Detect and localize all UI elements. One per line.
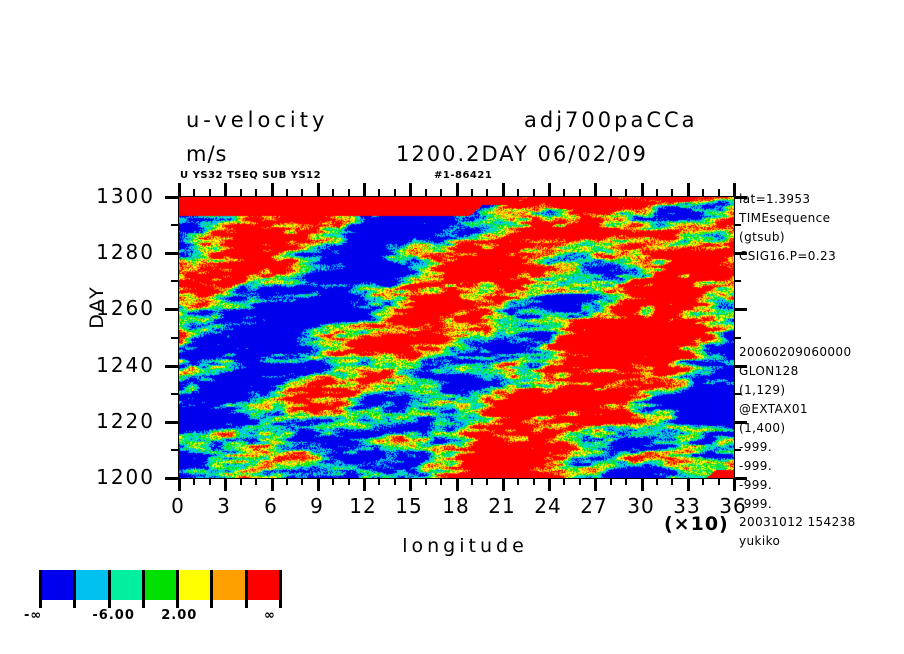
x-axis-major-tick <box>687 478 690 491</box>
x-axis-minor-tick-top <box>348 189 350 196</box>
x-axis-minor-tick-top <box>193 189 195 196</box>
x-axis-minor-tick <box>425 478 427 485</box>
x-axis-tick-label: 12 <box>339 494 387 518</box>
x-axis-tick-label: 21 <box>478 494 526 518</box>
y-axis-minor-tick-right <box>734 337 741 339</box>
colorbar-label: 2.00 <box>161 608 197 623</box>
x-axis-minor-tick-top <box>517 189 519 196</box>
y-axis-minor-tick-right <box>734 280 741 282</box>
side-note-top-line: lat=1.3953 <box>739 190 836 209</box>
x-axis-major-tick-top <box>456 183 459 196</box>
x-axis-minor-tick <box>702 478 704 485</box>
x-axis-minor-tick-top <box>394 189 396 196</box>
side-note-footer-line: yukiko <box>739 532 856 551</box>
x-axis-minor-tick <box>579 478 581 485</box>
x-axis-tick-label: 9 <box>293 494 341 518</box>
x-axis-minor-tick-top <box>656 189 658 196</box>
x-axis-minor-tick-top <box>255 189 257 196</box>
side-note-mid-line: (1,400) <box>739 419 852 438</box>
colorbar-swatch <box>143 570 177 600</box>
x-axis-tick-label: 15 <box>385 494 433 518</box>
y-axis-title: DAY <box>86 262 108 352</box>
x-axis-minor-tick <box>671 478 673 485</box>
x-axis-minor-tick-top <box>671 189 673 196</box>
x-axis-major-tick <box>224 478 227 491</box>
colorbar-swatch <box>109 570 143 600</box>
colorbar-tick <box>39 570 42 608</box>
x-axis-major-tick-top <box>548 183 551 196</box>
x-axis-tick-label: 30 <box>617 494 665 518</box>
x-axis-minor-tick <box>301 478 303 485</box>
x-axis-minor-tick-top <box>425 189 427 196</box>
x-axis-minor-tick <box>440 478 442 485</box>
x-axis-major-tick-top <box>502 183 505 196</box>
colorbar-swatch <box>211 570 245 600</box>
x-axis-major-tick <box>317 478 320 491</box>
side-note-mid-line: (1,129) <box>739 381 852 400</box>
y-axis-major-tick <box>165 365 178 368</box>
y-axis-minor-tick <box>171 393 178 395</box>
hovmoller-plot-area <box>178 196 735 479</box>
x-axis-minor-tick <box>193 478 195 485</box>
y-axis-minor-tick <box>171 449 178 451</box>
y-axis-major-tick-right <box>734 308 747 311</box>
x-axis-scale-note: (×10) <box>664 513 729 535</box>
x-axis-minor-tick <box>209 478 211 485</box>
y-axis-tick-label: 1220 <box>75 409 155 433</box>
colorbar-tick <box>108 570 111 608</box>
x-axis-major-tick-top <box>271 183 274 196</box>
x-axis-major-tick-top <box>317 183 320 196</box>
side-annotations-middle: 20060209060000GLON128(1,129)@EXTAX01(1,4… <box>739 343 852 514</box>
x-axis-major-tick-top <box>733 183 736 196</box>
y-axis-tick-label: 1240 <box>75 353 155 377</box>
x-axis-minor-tick <box>286 478 288 485</box>
x-axis-major-tick-top <box>178 183 181 196</box>
x-axis-minor-tick <box>625 478 627 485</box>
x-axis-major-tick-top <box>224 183 227 196</box>
x-axis-minor-tick-top <box>301 189 303 196</box>
y-axis-major-tick <box>165 477 178 480</box>
x-axis-major-tick <box>641 478 644 491</box>
side-note-top-line: (gtsub) <box>739 228 836 247</box>
y-axis-minor-tick <box>171 224 178 226</box>
x-axis-minor-tick-top <box>286 189 288 196</box>
x-axis-minor-tick <box>610 478 612 485</box>
side-annotations-footer: 20031012 154238yukiko <box>739 513 856 551</box>
colorbar-swatch <box>40 570 74 600</box>
colorbar-label: -6.00 <box>92 608 134 623</box>
x-axis-tick-label: 27 <box>570 494 618 518</box>
x-axis-major-tick <box>271 478 274 491</box>
side-note-top-line: TIMEsequence <box>739 209 836 228</box>
x-axis-minor-tick <box>240 478 242 485</box>
side-note-mid-line: @EXTAX01 <box>739 400 852 419</box>
x-axis-minor-tick <box>348 478 350 485</box>
colorbar-label: -∞ <box>24 608 42 623</box>
x-axis-minor-tick-top <box>625 189 627 196</box>
colorbar-tick <box>210 570 213 608</box>
colorbar-tick <box>279 570 282 608</box>
x-axis-minor-tick-top <box>378 189 380 196</box>
x-axis-tick-label: 3 <box>200 494 248 518</box>
side-note-mid-line: -999. <box>739 495 852 514</box>
colorbar-swatch <box>74 570 108 600</box>
x-axis-minor-tick-top <box>702 189 704 196</box>
x-axis-minor-tick-top <box>332 189 334 196</box>
x-axis-minor-tick-top <box>718 189 720 196</box>
x-axis-minor-tick-top <box>240 189 242 196</box>
x-axis-minor-tick-top <box>471 189 473 196</box>
x-axis-major-tick-top <box>641 183 644 196</box>
plot-meta-right: #1-86421 <box>434 170 492 181</box>
x-axis-major-tick <box>409 478 412 491</box>
x-axis-minor-tick <box>471 478 473 485</box>
plot-timestamp: 1200.2DAY 06/02/09 <box>396 142 648 166</box>
side-note-mid-line: -999. <box>739 438 852 457</box>
plot-units: m/s <box>186 142 227 166</box>
x-axis-minor-tick <box>563 478 565 485</box>
x-axis-major-tick-top <box>409 183 412 196</box>
side-annotations-top: lat=1.3953TIMEsequence(gtsub)CSIG16.P=0.… <box>739 190 836 266</box>
colorbar-swatch <box>177 570 211 600</box>
colorbar-tick <box>176 570 179 608</box>
x-axis-minor-tick <box>517 478 519 485</box>
x-axis-major-tick <box>363 478 366 491</box>
x-axis-minor-tick <box>656 478 658 485</box>
colorbar-tick <box>142 570 145 608</box>
x-axis-minor-tick-top <box>440 189 442 196</box>
colorbar-labels: -∞-6.002.00∞ <box>40 608 300 628</box>
plot-title-variable: u-velocity <box>186 108 328 132</box>
x-axis-major-tick <box>548 478 551 491</box>
colorbar-label: ∞ <box>264 608 276 623</box>
side-note-mid-line: GLON128 <box>739 362 852 381</box>
y-axis-tick-label: 1280 <box>75 240 155 264</box>
side-note-top-line: CSIG16.P=0.23 <box>739 247 836 266</box>
side-note-mid-line: 20060209060000 <box>739 343 852 362</box>
x-axis-minor-tick-top <box>486 189 488 196</box>
x-axis-minor-tick-top <box>209 189 211 196</box>
y-axis-tick-label: 1200 <box>75 465 155 489</box>
y-axis-minor-tick <box>171 337 178 339</box>
x-axis-minor-tick-top <box>610 189 612 196</box>
x-axis-title: longitude <box>360 535 570 557</box>
x-axis-minor-tick-top <box>579 189 581 196</box>
x-axis-minor-tick <box>718 478 720 485</box>
x-axis-minor-tick-top <box>563 189 565 196</box>
y-axis-minor-tick <box>171 280 178 282</box>
plot-title-experiment: adj700paCCa <box>524 108 698 132</box>
x-axis-minor-tick <box>486 478 488 485</box>
x-axis-tick-label: 6 <box>247 494 295 518</box>
plot-meta-left: U YS32 TSEQ SUB YS12 <box>180 170 321 181</box>
colorbar: -∞-6.002.00∞ <box>40 570 300 628</box>
side-note-footer-line: 20031012 154238 <box>739 513 856 532</box>
x-axis-minor-tick-top <box>533 189 535 196</box>
x-axis-minor-tick <box>394 478 396 485</box>
x-axis-tick-label: 24 <box>524 494 572 518</box>
x-axis-major-tick-top <box>594 183 597 196</box>
x-axis-minor-tick <box>255 478 257 485</box>
y-axis-major-tick <box>165 421 178 424</box>
y-axis-major-tick <box>165 196 178 199</box>
y-axis-tick-label: 1300 <box>75 184 155 208</box>
colorbar-swatch <box>246 570 280 600</box>
x-axis-major-tick <box>178 478 181 491</box>
x-axis-major-tick-top <box>687 183 690 196</box>
side-note-mid-line: -999. <box>739 457 852 476</box>
side-note-mid-line: -999. <box>739 476 852 495</box>
x-axis-tick-label: 0 <box>154 494 202 518</box>
heatmap-image <box>179 197 734 478</box>
x-axis-major-tick <box>456 478 459 491</box>
y-axis-major-tick <box>165 252 178 255</box>
x-axis-minor-tick <box>332 478 334 485</box>
x-axis-tick-label: 18 <box>432 494 480 518</box>
x-axis-major-tick-top <box>363 183 366 196</box>
y-axis-major-tick <box>165 308 178 311</box>
colorbar-tick <box>245 570 248 608</box>
x-axis-minor-tick <box>533 478 535 485</box>
x-axis-major-tick <box>502 478 505 491</box>
x-axis-minor-tick <box>378 478 380 485</box>
x-axis-major-tick <box>594 478 597 491</box>
colorbar-tick <box>73 570 76 608</box>
